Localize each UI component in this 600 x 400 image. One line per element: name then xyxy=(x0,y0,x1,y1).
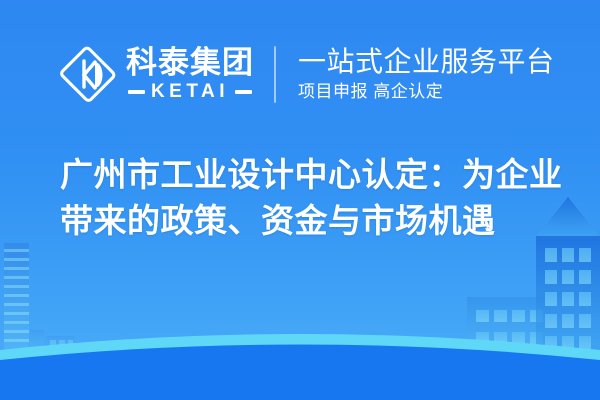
building-left-tower xyxy=(4,243,29,355)
company-name-en: KETAI xyxy=(151,82,229,101)
dash-left-icon xyxy=(128,90,145,94)
kp-diamond-logo-icon xyxy=(60,46,116,102)
page-title-line-1: 广州市工业设计中心认定：为企业 xyxy=(60,152,580,198)
tagline-sub: 项目申报 高企认定 xyxy=(298,82,555,102)
logo-wordmark: 科泰集团 KETAI xyxy=(126,47,254,102)
brand-header: 科泰集团 KETAI 一站式企业服务平台 项目申报 高企认定 xyxy=(60,34,555,114)
tagline-block: 一站式企业服务平台 项目申报 高企认定 xyxy=(298,46,555,103)
company-name-cn: 科泰集团 xyxy=(126,47,254,80)
banner-canvas: 科泰集团 KETAI 一站式企业服务平台 项目申报 高企认定 广州市工业设计中心… xyxy=(0,0,600,400)
page-title: 广州市工业设计中心认定：为企业 带来的政策、资金与市场机遇 xyxy=(60,152,580,244)
page-title-line-2: 带来的政策、资金与市场机遇 xyxy=(60,198,580,244)
header-divider xyxy=(274,46,276,103)
tagline-main: 一站式企业服务平台 xyxy=(298,46,555,77)
dash-right-icon xyxy=(235,90,252,94)
bottom-curve-arc xyxy=(0,334,600,400)
company-name-en-row: KETAI xyxy=(126,82,254,101)
